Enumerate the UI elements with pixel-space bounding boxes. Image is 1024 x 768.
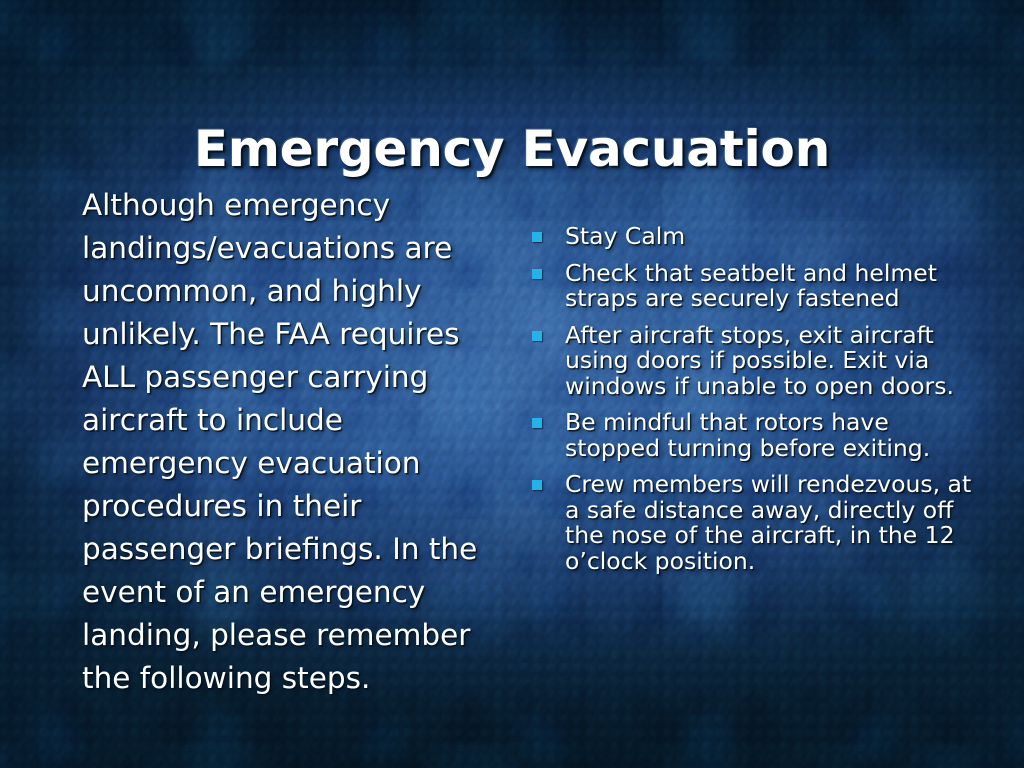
list-item: Be mindful that rotors have stopped turn…: [528, 410, 978, 461]
slide-title: Emergency Evacuation: [0, 122, 1024, 176]
list-item: Crew members will rendezvous, at a safe …: [528, 472, 978, 574]
square-bullet-icon: [532, 418, 542, 428]
square-bullet-icon: [532, 480, 542, 490]
evacuation-steps-list: Stay Calm Check that seatbelt and helmet…: [528, 224, 978, 574]
list-item-label: Crew members will rendezvous, at a safe …: [565, 470, 971, 575]
list-item-label: Check that seatbelt and helmet straps ar…: [565, 259, 937, 313]
slide-content: Emergency Evacuation Although emergency …: [0, 0, 1024, 768]
list-item-label: Stay Calm: [565, 222, 685, 250]
right-body-column: Stay Calm Check that seatbelt and helmet…: [528, 224, 978, 574]
left-body-paragraph: Although emergency landings/evacuations …: [82, 184, 498, 700]
square-bullet-icon: [532, 269, 542, 279]
list-item-label: Be mindful that rotors have stopped turn…: [565, 408, 930, 462]
list-item: Check that seatbelt and helmet straps ar…: [528, 261, 978, 312]
list-item-label: After aircraft stops, exit aircraft usin…: [565, 321, 954, 400]
presentation-slide: Emergency Evacuation Although emergency …: [0, 0, 1024, 768]
square-bullet-icon: [532, 232, 542, 242]
list-item: After aircraft stops, exit aircraft usin…: [528, 323, 978, 400]
list-item: Stay Calm: [528, 224, 978, 250]
square-bullet-icon: [532, 331, 542, 341]
